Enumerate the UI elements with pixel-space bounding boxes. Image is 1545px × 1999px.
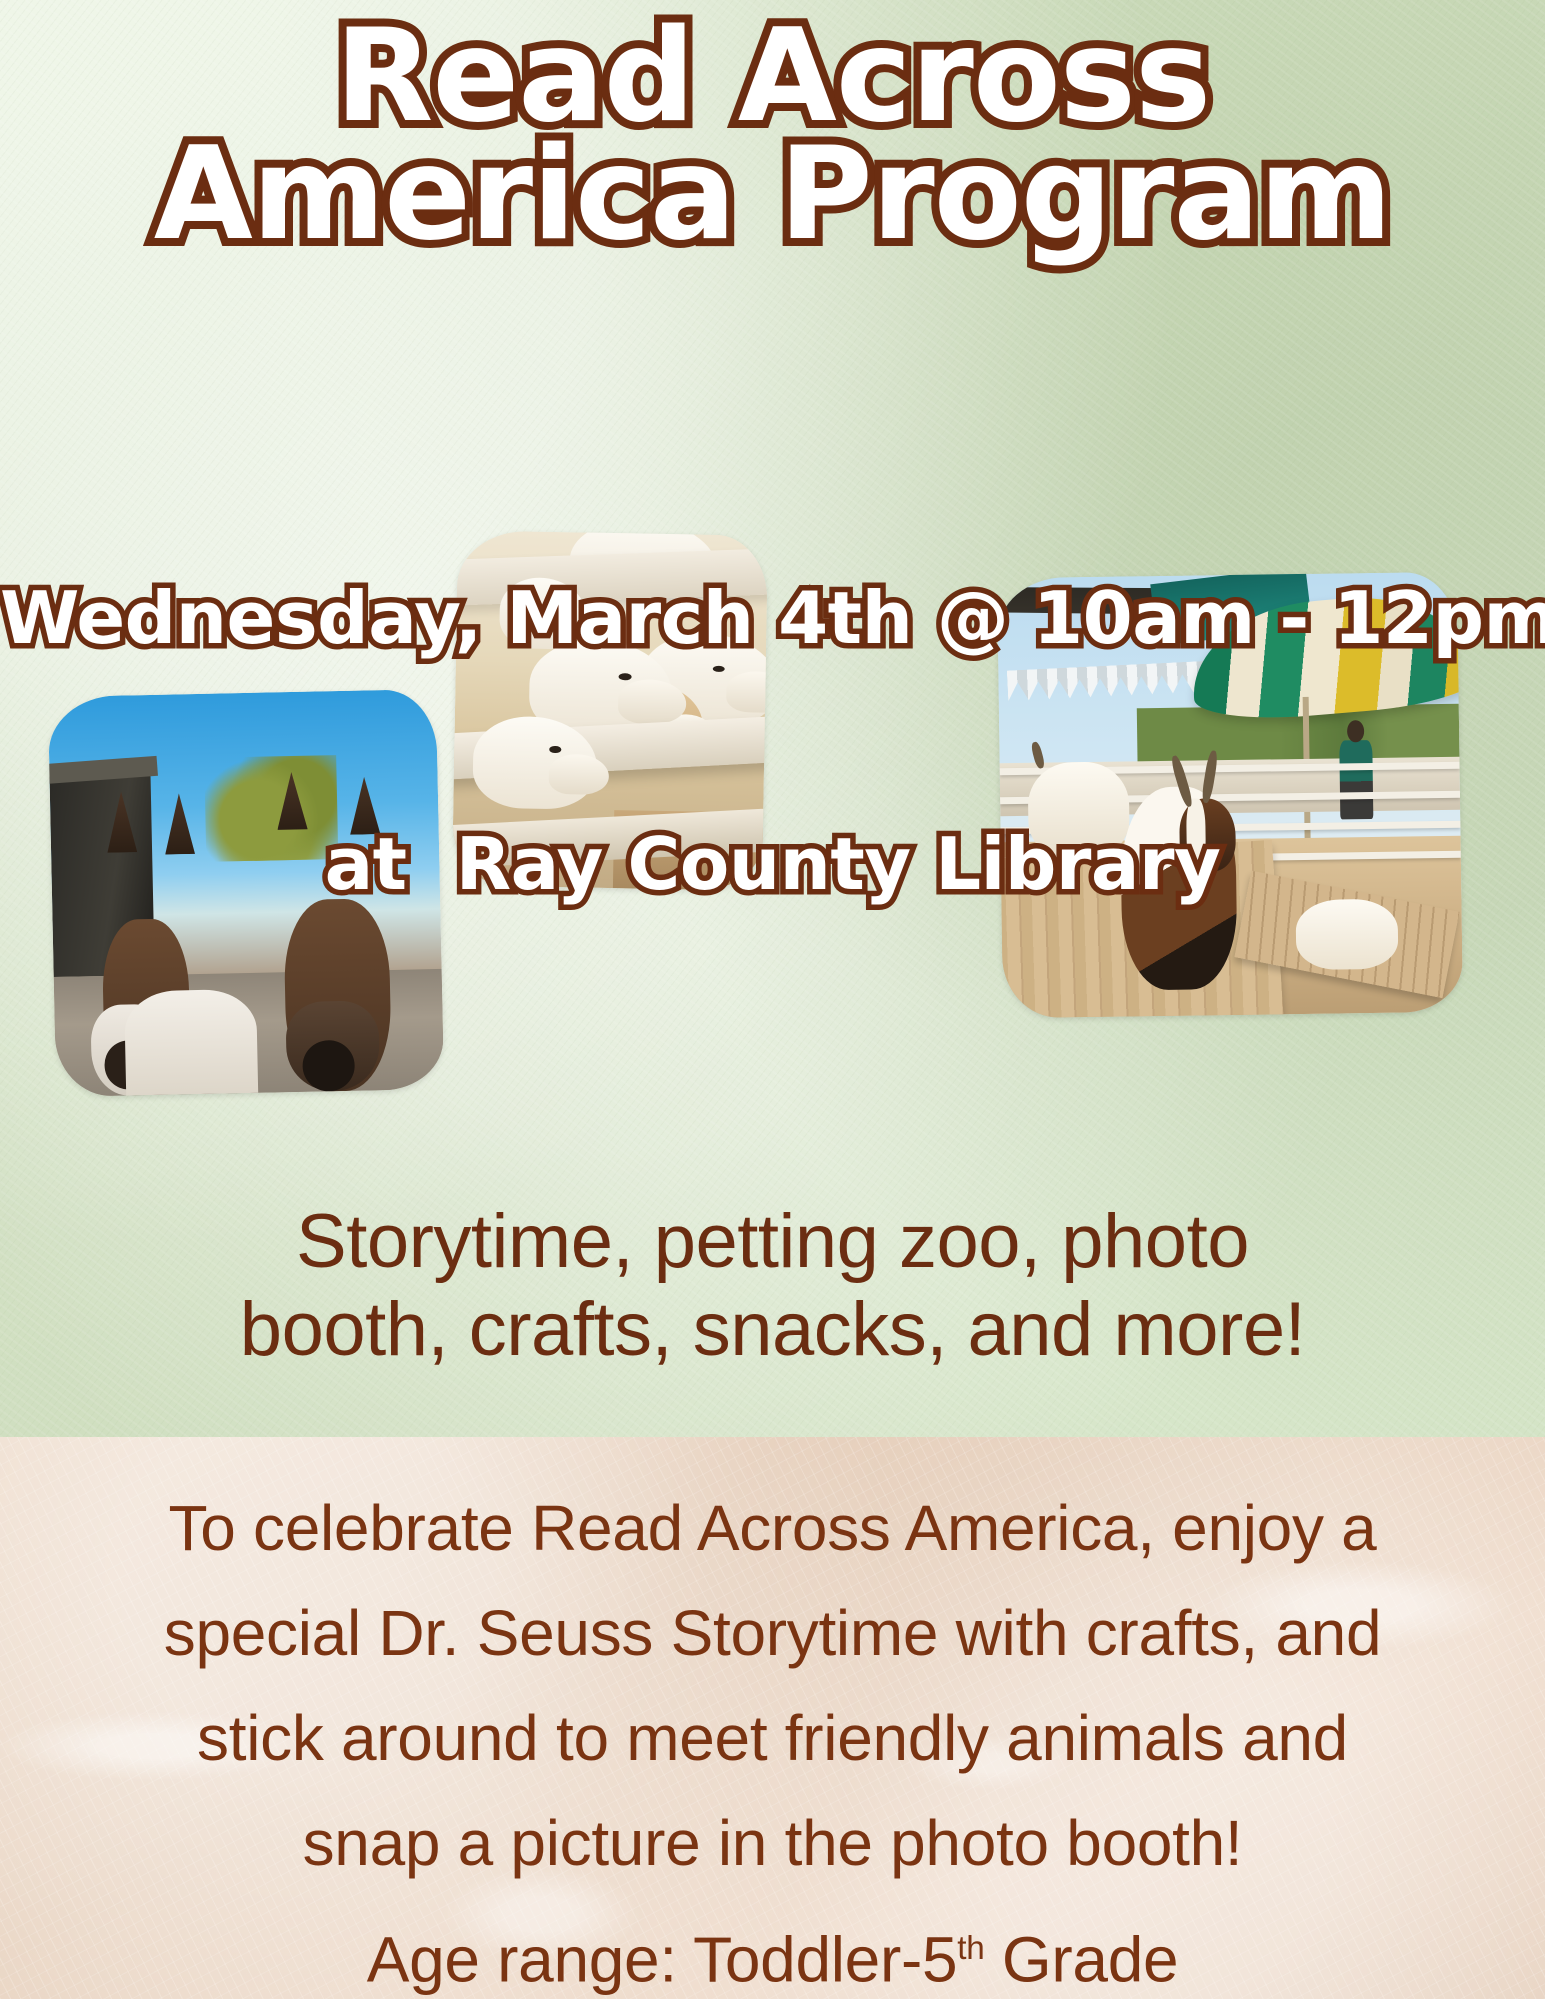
- description-line-2: special Dr. Seuss Storytime with crafts,…: [0, 1581, 1545, 1686]
- description-paragraph: To celebrate Read Across America, enjoy …: [0, 1476, 1545, 1999]
- event-details: Wednesday, March 4th @ 10am - 12pm at Ra…: [0, 413, 1545, 1069]
- description-line-1: To celebrate Read Across America, enjoy …: [0, 1476, 1545, 1581]
- tagline-line-1: Storytime, petting zoo, photo: [0, 1198, 1545, 1286]
- event-date-time: Wednesday, March 4th @ 10am - 12pm: [0, 577, 1545, 659]
- age-range-suffix: Grade: [984, 1923, 1178, 1995]
- activities-tagline: Storytime, petting zoo, photo booth, cra…: [0, 1198, 1545, 1374]
- headline-line-2: America Program: [0, 136, 1545, 254]
- event-location: at Ray County Library: [0, 823, 1545, 905]
- age-range-prefix: Age range: Toddler-5: [367, 1923, 958, 1995]
- poster-headline: Read Across America Program: [0, 18, 1545, 254]
- poster-canvas: Read Across America Program Wednesday, M…: [0, 0, 1545, 1999]
- tagline-line-2: booth, crafts, snacks, and more!: [0, 1286, 1545, 1374]
- description-line-3: stick around to meet friendly animals an…: [0, 1686, 1545, 1791]
- age-range-line: Age range: Toddler-5th Grade: [0, 1896, 1545, 1999]
- description-line-4: snap a picture in the photo booth!: [0, 1791, 1545, 1896]
- age-range-ordinal-suffix: th: [957, 1930, 984, 1967]
